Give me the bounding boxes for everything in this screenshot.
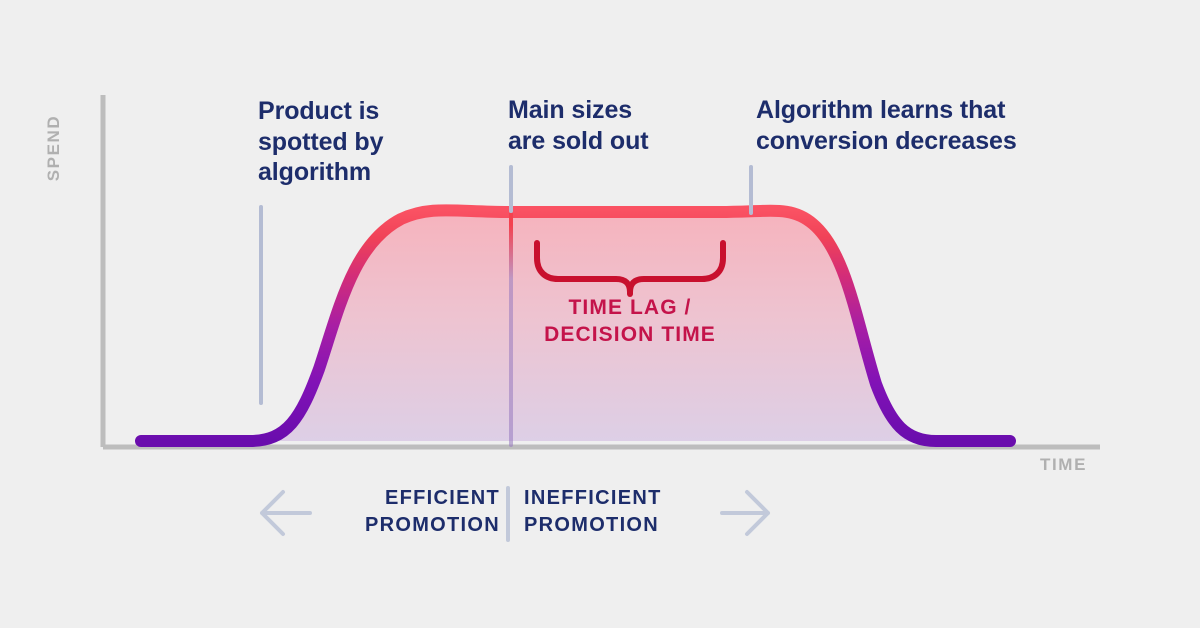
y-axis-label: SPEND (44, 88, 64, 208)
annotation-sizes-sold-out: Main sizes are sold out (508, 95, 738, 156)
leader-line-sizes-sold-out (509, 165, 513, 213)
spend-over-time-infographic: SPEND TIME Product is spotted by algorit… (0, 0, 1200, 628)
x-axis-label: TIME (1040, 455, 1087, 475)
time-lag-label: TIME LAG / DECISION TIME (500, 294, 760, 349)
arrow-left-icon (262, 492, 310, 534)
segment-divider (506, 486, 510, 542)
arrow-right-icon (722, 492, 768, 534)
leader-line-product-spotted (259, 205, 263, 405)
segment-label-efficient: EFFICIENT PROMOTION (320, 485, 500, 539)
segment-label-inefficient: INEFFICIENT PROMOTION (524, 485, 714, 539)
leader-line-algorithm-learns (749, 165, 753, 215)
annotation-algorithm-learns: Algorithm learns that conversion decreas… (756, 95, 1076, 156)
annotation-product-spotted: Product is spotted by algorithm (258, 96, 488, 188)
